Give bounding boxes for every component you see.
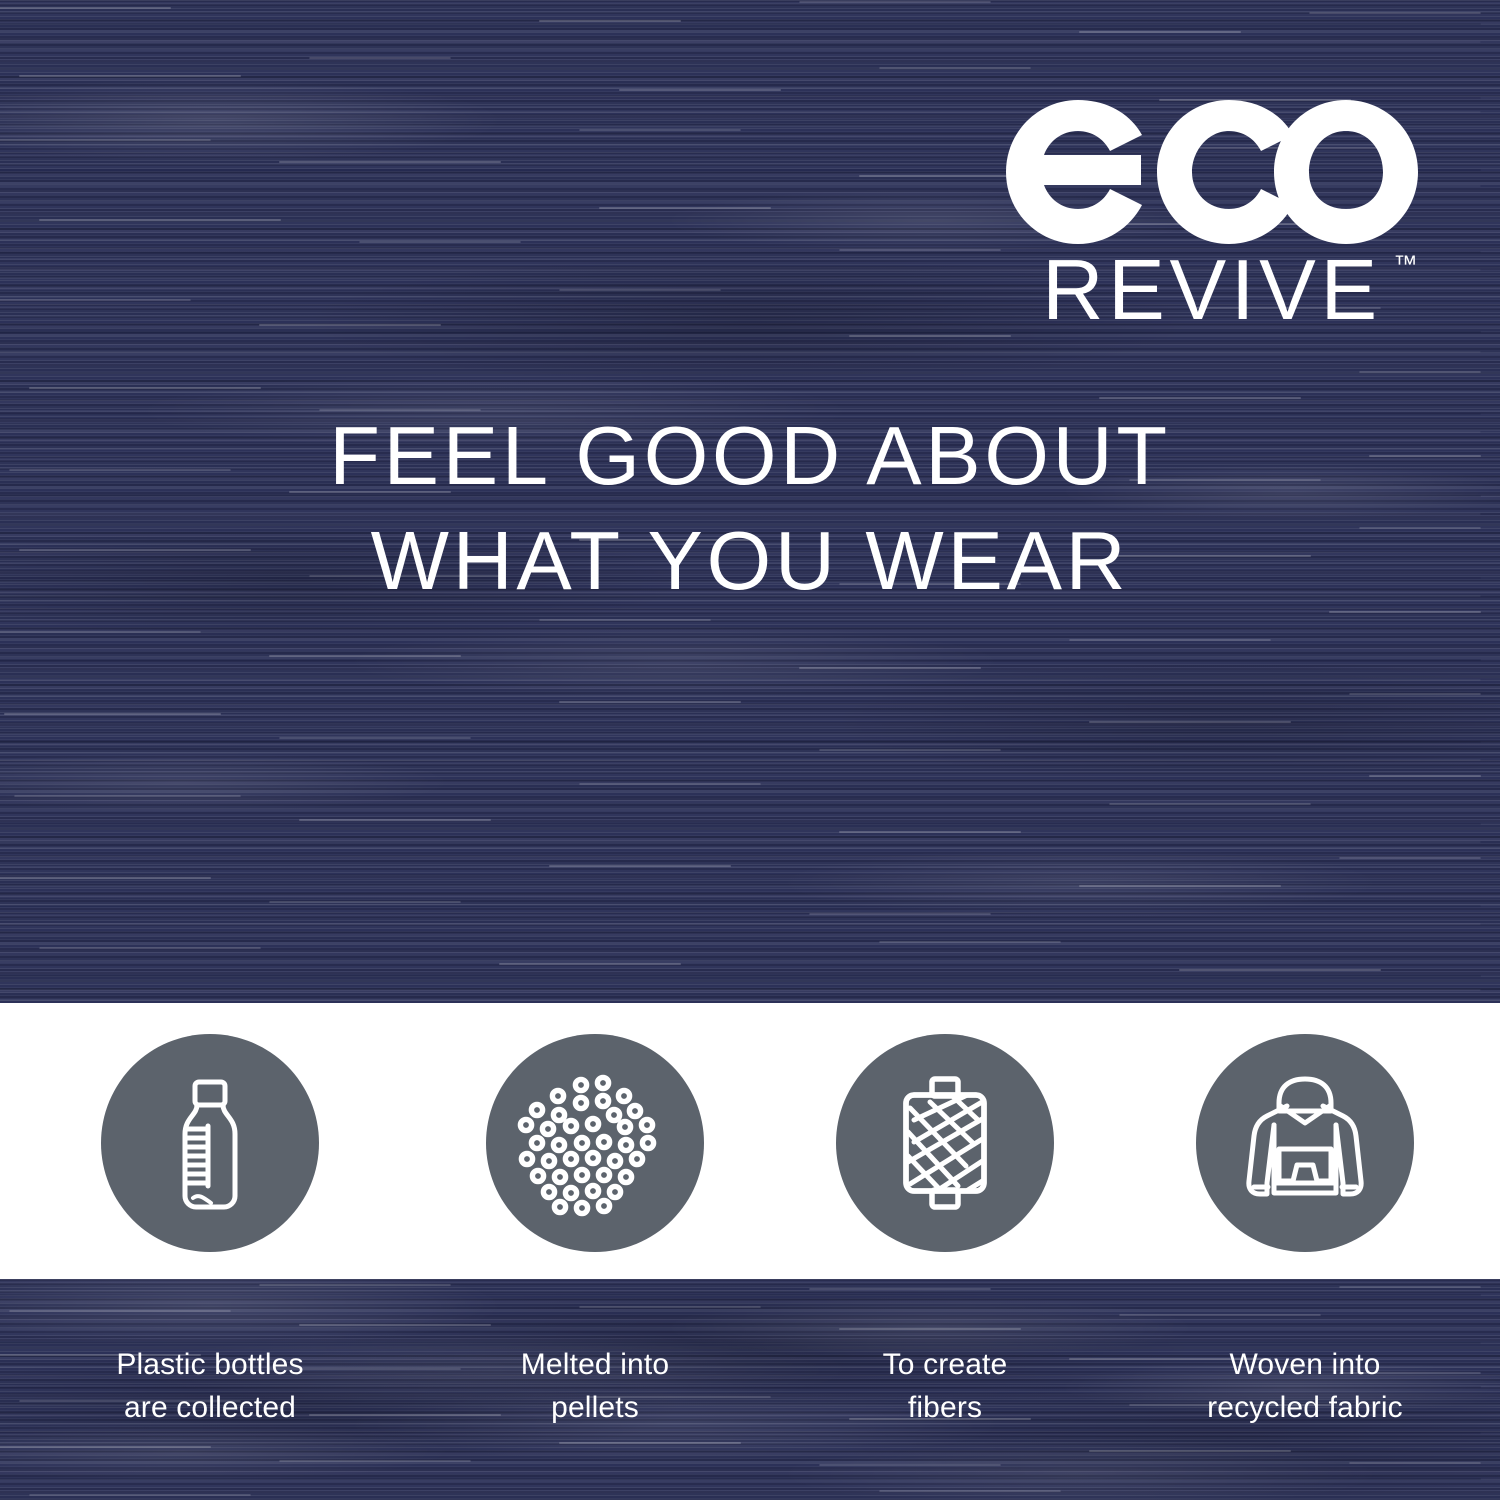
caption-3-line-2: fibers	[780, 1387, 1110, 1430]
headline-line-1: FEEL GOOD ABOUT	[0, 404, 1500, 509]
hero-headline: FEEL GOOD ABOUT WHAT YOU WEAR	[0, 404, 1500, 613]
plastic-bottle-icon	[135, 1068, 285, 1218]
brand-wordmark: REVIVE ™	[1042, 252, 1382, 330]
hoodie-icon	[1227, 1065, 1383, 1221]
caption-fabric-background: Plastic bottles are collected Melted int…	[0, 1279, 1500, 1500]
process-step-1-caption: Plastic bottles are collected	[45, 1344, 375, 1429]
icon-circle-hoodie	[1196, 1034, 1414, 1252]
process-step-4-icon	[1196, 1034, 1414, 1252]
process-icon-strip	[0, 1003, 1500, 1279]
hero-fabric-background: REVIVE ™ FEEL GOOD ABOUT WHAT YOU WEAR	[0, 0, 1500, 1003]
process-step-4-caption: Woven into recycled fabric	[1140, 1344, 1470, 1429]
brand-logo: REVIVE ™	[1002, 96, 1422, 330]
trademark-symbol: ™	[1393, 254, 1417, 276]
caption-3-line-1: To create	[780, 1344, 1110, 1387]
process-step-2-icon	[486, 1034, 704, 1252]
plastic-pellets-icon	[515, 1063, 675, 1223]
icon-circle-spool	[836, 1034, 1054, 1252]
thread-spool-icon	[870, 1068, 1020, 1218]
icon-circle-pellets	[486, 1034, 704, 1252]
process-step-2-caption: Melted into pellets	[430, 1344, 760, 1429]
caption-4-line-2: recycled fabric	[1140, 1387, 1470, 1430]
icon-circle-bottle	[101, 1034, 319, 1252]
caption-1-line-1: Plastic bottles	[45, 1344, 375, 1387]
caption-4-line-1: Woven into	[1140, 1344, 1470, 1387]
caption-1-line-2: are collected	[45, 1387, 375, 1430]
brand-wordmark-text: REVIVE	[1042, 243, 1382, 338]
headline-line-2: WHAT YOU WEAR	[0, 509, 1500, 614]
eco-logo-icon	[1002, 96, 1422, 248]
process-step-3-caption: To create fibers	[780, 1344, 1110, 1429]
process-step-1-icon	[101, 1034, 319, 1252]
caption-2-line-1: Melted into	[430, 1344, 760, 1387]
eco-revive-marketing-graphic: REVIVE ™ FEEL GOOD ABOUT WHAT YOU WEAR	[0, 0, 1500, 1500]
caption-2-line-2: pellets	[430, 1387, 760, 1430]
process-step-3-icon	[836, 1034, 1054, 1252]
